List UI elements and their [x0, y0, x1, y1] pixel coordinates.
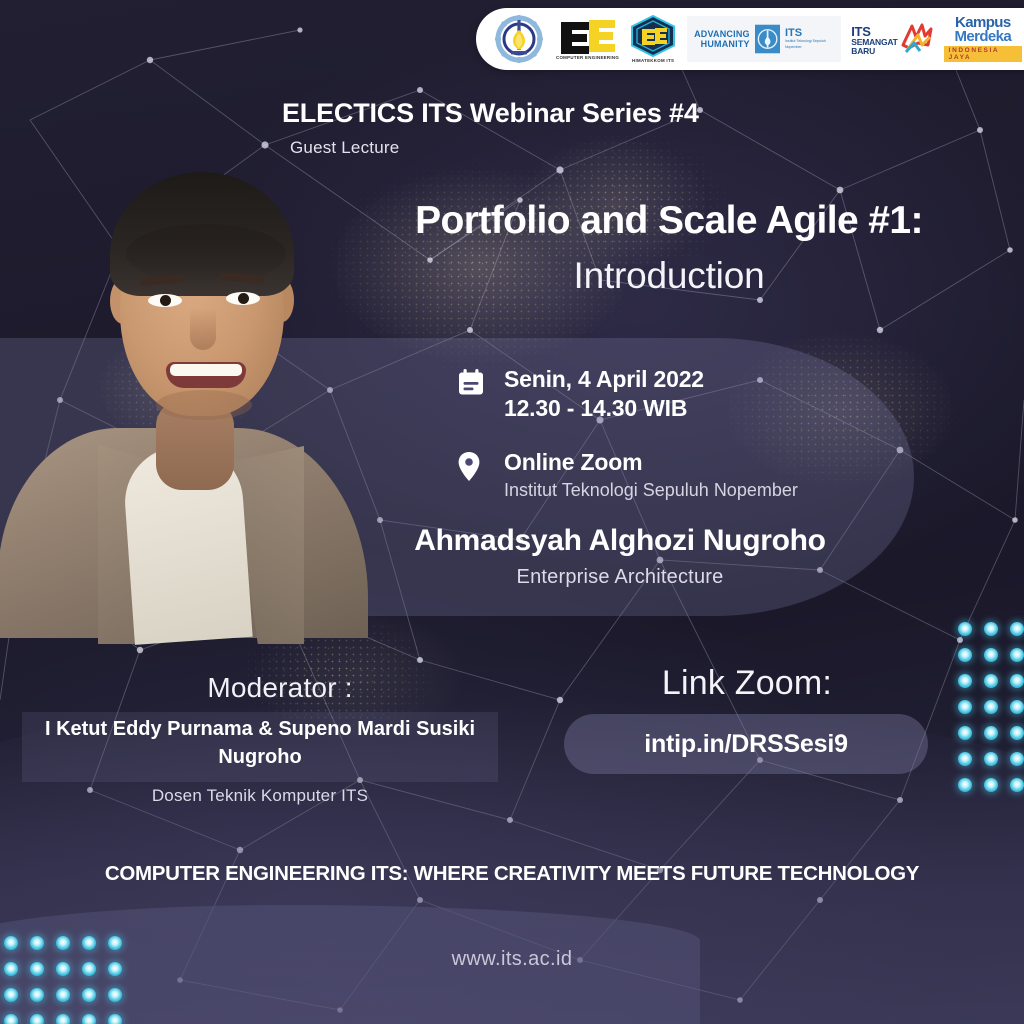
- event-time: 12.30 - 14.30 WIB: [504, 394, 704, 423]
- its-fullname: Institut Teknologi Sepuluh Nopember: [785, 39, 834, 49]
- decorative-dot-grid-right: [958, 622, 1024, 804]
- guest-lecture-kicker: Guest Lecture: [290, 138, 399, 158]
- footer-website: www.its.ac.id: [0, 948, 1024, 971]
- its-semangat-baru-logo: ITS SEMANGAT BARU: [851, 23, 933, 55]
- event-venue: Online Zoom: [504, 448, 798, 477]
- advancing-humanity-its-logo: ADVANCING HUMANITY ITS Institut Teknolog…: [687, 16, 841, 62]
- speaker-name: Ahmadsyah Alghozi Nugroho: [280, 524, 960, 558]
- decorative-dot: [984, 752, 998, 766]
- decorative-dot: [958, 752, 972, 766]
- decorative-dot: [984, 778, 998, 792]
- zoom-link-url: intip.in/DRSSesi9: [644, 730, 848, 759]
- its-abbrev: ITS: [785, 28, 834, 39]
- decorative-dot: [958, 700, 972, 714]
- speaker-role: Enterprise Architecture: [280, 566, 960, 589]
- advancing-humanity-text: ADVANCING HUMANITY: [694, 29, 750, 50]
- computer-engineering-caption: COMPUTER ENGINEERING: [556, 55, 619, 60]
- its-seal-icon: [755, 22, 780, 56]
- decorative-dot: [958, 674, 972, 688]
- decorative-dot: [108, 988, 122, 1002]
- page-title: Portfolio and Scale Agile #1:: [324, 200, 1014, 242]
- moderator-affiliation: Dosen Teknik Komputer ITS: [22, 786, 498, 806]
- decorative-dot: [30, 1014, 44, 1024]
- decorative-dot: [56, 988, 70, 1002]
- semangat-flame-icon: [900, 23, 934, 55]
- decorative-dot: [1010, 622, 1024, 636]
- himatekkom-its-logo: HIMATEKKOM ITS: [629, 15, 677, 63]
- moderator-names: I Ketut Eddy Purnama & Supeno Mardi Susi…: [22, 716, 498, 771]
- decorative-dot: [984, 622, 998, 636]
- advancing-line: ADVANCING: [694, 29, 750, 39]
- kampus-merdeka-logo: Kampus Merdeka INDONESIA JAYA: [944, 16, 1022, 62]
- zoom-link-button[interactable]: intip.in/DRSSesi9: [564, 714, 928, 774]
- event-details: Senin, 4 April 2022 12.30 - 14.30 WIB On…: [458, 365, 798, 503]
- decorative-dot: [1010, 648, 1024, 662]
- decorative-dot: [958, 778, 972, 792]
- decorative-dot: [984, 726, 998, 740]
- sponsor-logo-bar: COMPUTER ENGINEERING HIMATEKKOM ITS ADVA…: [476, 8, 1024, 70]
- decorative-dot: [1010, 726, 1024, 740]
- zoom-link-label: Link Zoom:: [566, 664, 928, 703]
- webinar-series-title: ELECTICS ITS Webinar Series #4: [282, 98, 699, 129]
- decorative-dot: [108, 1014, 122, 1024]
- decorative-dot: [82, 1014, 96, 1024]
- computer-engineering-logo: COMPUTER ENGINEERING: [556, 18, 619, 60]
- event-venue-row: Online Zoom Institut Teknologi Sepuluh N…: [458, 448, 798, 503]
- decorative-dot: [1010, 674, 1024, 688]
- page-subtitle: Introduction: [324, 256, 1014, 297]
- decorative-dot: [1010, 778, 1024, 792]
- decorative-dot: [984, 674, 998, 688]
- decorative-dot: [984, 700, 998, 714]
- decorative-dot: [4, 988, 18, 1002]
- calendar-icon: [458, 365, 484, 401]
- humanity-line: HUMANITY: [694, 39, 750, 49]
- decorative-dot: [4, 1014, 18, 1024]
- himatekkom-its-caption: HIMATEKKOM ITS: [632, 58, 674, 63]
- webinar-poster: COMPUTER ENGINEERING HIMATEKKOM ITS ADVA…: [0, 0, 1024, 1024]
- footer-tagline: COMPUTER ENGINEERING ITS: WHERE CREATIVI…: [0, 862, 1024, 886]
- decorative-dot: [1010, 752, 1024, 766]
- decorative-dot: [56, 1014, 70, 1024]
- event-institution: Institut Teknologi Sepuluh Nopember: [504, 479, 798, 503]
- decorative-dot: [82, 988, 96, 1002]
- event-date: Senin, 4 April 2022: [504, 365, 704, 394]
- event-date-row: Senin, 4 April 2022 12.30 - 14.30 WIB: [458, 365, 798, 424]
- location-pin-icon: [458, 448, 484, 486]
- indonesia-jaya-line: INDONESIA JAYA: [944, 46, 1022, 62]
- decorative-dot: [958, 648, 972, 662]
- baru-line: BARU: [851, 47, 875, 55]
- its-crest-logo: [492, 14, 546, 64]
- moderator-label: Moderator :: [40, 672, 520, 704]
- decorative-dot: [30, 988, 44, 1002]
- merdeka-line: Merdeka: [955, 30, 1012, 44]
- decorative-dot: [984, 648, 998, 662]
- decorative-dot: [958, 726, 972, 740]
- decorative-dot: [958, 622, 972, 636]
- decorative-dot: [1010, 700, 1024, 714]
